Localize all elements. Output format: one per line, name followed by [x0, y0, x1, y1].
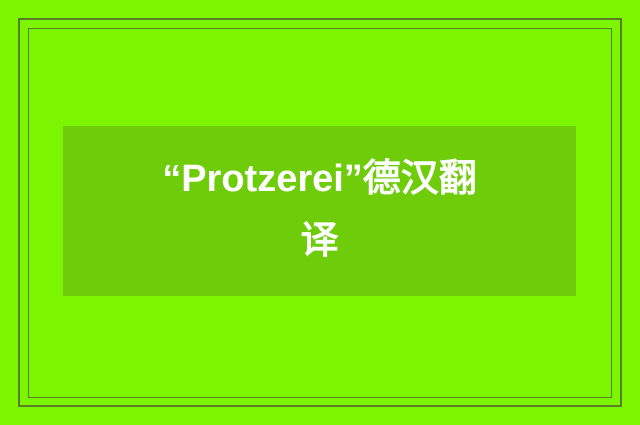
page-canvas: “Protzerei”德汉翻译	[0, 0, 640, 425]
page-title: “Protzerei”德汉翻译	[155, 149, 485, 272]
title-panel: “Protzerei”德汉翻译	[63, 126, 576, 296]
